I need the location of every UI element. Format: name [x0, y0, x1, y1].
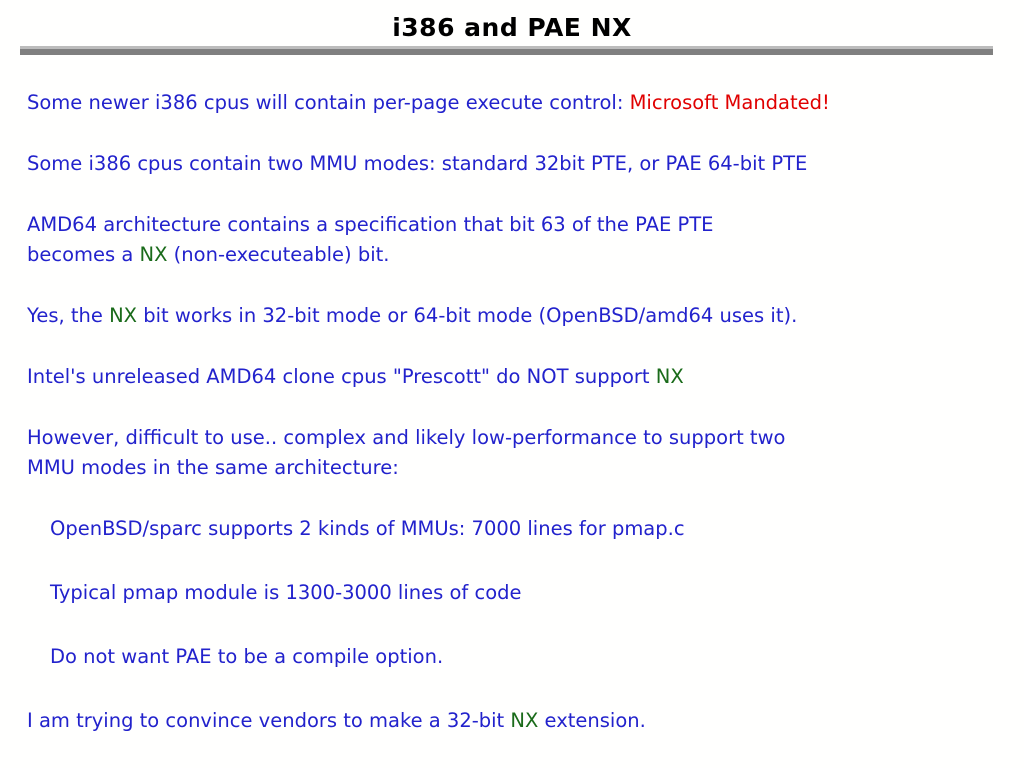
body-text: Intel's unreleased AMD64 clone cpus "Pre… — [27, 365, 656, 388]
body-text: MMU modes in the same architecture: — [27, 456, 399, 479]
body-line: Some i386 cpus contain two MMU modes: st… — [27, 149, 1002, 179]
body-line: Do not want PAE to be a compile option. — [50, 642, 1002, 672]
body-text: Yes, the — [27, 304, 109, 327]
body-text: AMD64 architecture contains a specificat… — [27, 213, 713, 236]
body-text: Do not want PAE to be a compile option. — [50, 645, 443, 668]
body-text: extension. — [538, 709, 645, 732]
body-text: (non-executeable) bit. — [167, 243, 389, 266]
body-paragraph: I am trying to convince vendors to make … — [27, 706, 1002, 736]
body-line: becomes a NX (non-executeable) bit. — [27, 240, 1002, 270]
body-paragraph: AMD64 architecture contains a specificat… — [27, 210, 1002, 270]
body-text: Typical pmap module is 1300-3000 lines o… — [50, 581, 522, 604]
body-line: Typical pmap module is 1300-3000 lines o… — [50, 578, 1002, 608]
body-paragraph: Some i386 cpus contain two MMU modes: st… — [27, 149, 1002, 179]
highlight-green-text: NX — [656, 365, 684, 388]
body-line: Yes, the NX bit works in 32-bit mode or … — [27, 301, 1002, 331]
body-paragraph-indented: Do not want PAE to be a compile option. — [50, 642, 1002, 672]
body-text: Some i386 cpus contain two MMU modes: st… — [27, 152, 807, 175]
body-paragraph: Yes, the NX bit works in 32-bit mode or … — [27, 301, 1002, 331]
title-divider — [20, 46, 993, 55]
slide-canvas: i386 and PAE NX Some newer i386 cpus wil… — [0, 0, 1024, 768]
body-text: Some newer i386 cpus will contain per-pa… — [27, 91, 630, 114]
page-title: i386 and PAE NX — [0, 13, 1024, 42]
body-paragraph: Intel's unreleased AMD64 clone cpus "Pre… — [27, 362, 1002, 392]
body-paragraph: Some newer i386 cpus will contain per-pa… — [27, 88, 1002, 118]
body-text: bit works in 32-bit mode or 64-bit mode … — [137, 304, 797, 327]
highlight-green-text: NX — [140, 243, 168, 266]
body-line: However, difficult to use.. complex and … — [27, 423, 1002, 453]
body-text: OpenBSD/sparc supports 2 kinds of MMUs: … — [50, 517, 685, 540]
body-text: becomes a — [27, 243, 140, 266]
body-line: Some newer i386 cpus will contain per-pa… — [27, 88, 1002, 118]
body-paragraph-indented: Typical pmap module is 1300-3000 lines o… — [50, 578, 1002, 608]
body-line: Intel's unreleased AMD64 clone cpus "Pre… — [27, 362, 1002, 392]
body-line: AMD64 architecture contains a specificat… — [27, 210, 1002, 240]
highlight-green-text: NX — [109, 304, 137, 327]
highlight-red-text: Microsoft Mandated! — [630, 91, 830, 114]
body-paragraph-indented: OpenBSD/sparc supports 2 kinds of MMUs: … — [50, 514, 1002, 544]
body-line: OpenBSD/sparc supports 2 kinds of MMUs: … — [50, 514, 1002, 544]
highlight-green-text: NX — [510, 709, 538, 732]
slide-body: Some newer i386 cpus will contain per-pa… — [27, 88, 1002, 736]
body-line: I am trying to convince vendors to make … — [27, 706, 1002, 736]
body-text: However, difficult to use.. complex and … — [27, 426, 785, 449]
body-paragraph: However, difficult to use.. complex and … — [27, 423, 1002, 483]
body-line: MMU modes in the same architecture: — [27, 453, 1002, 483]
body-text: I am trying to convince vendors to make … — [27, 709, 510, 732]
